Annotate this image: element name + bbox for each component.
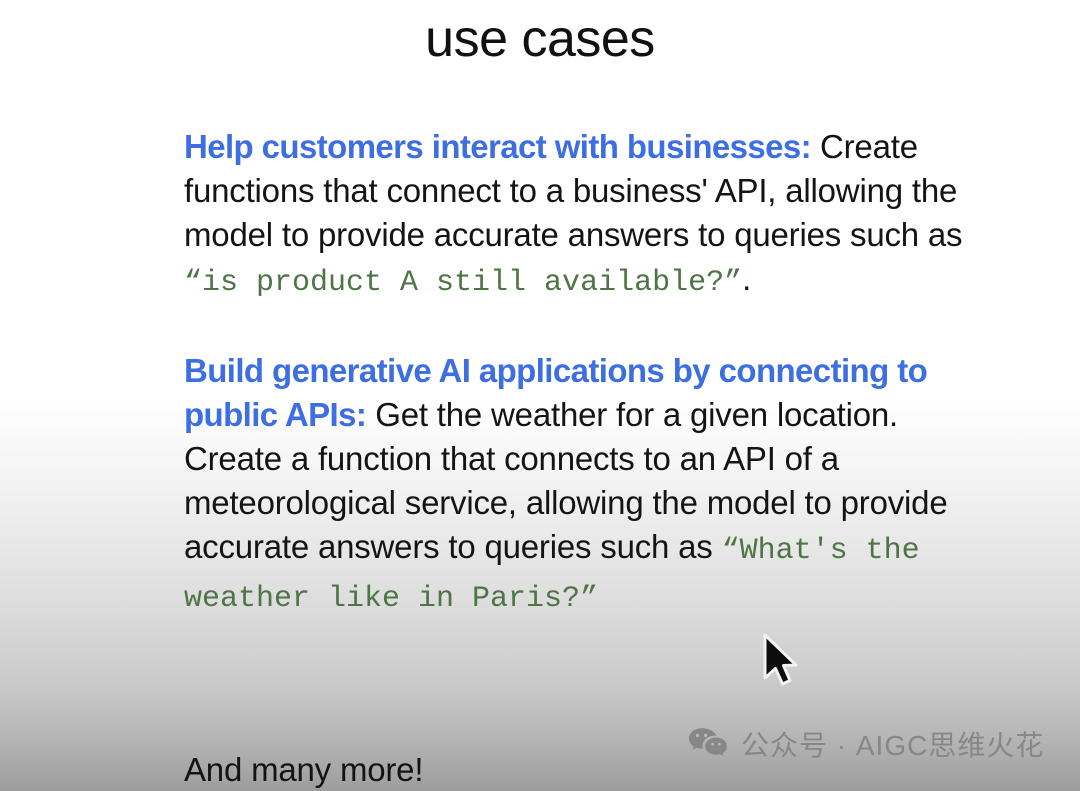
watermark-text: 公众号 · AIGC思维火花 — [741, 732, 1044, 760]
section-1-heading: Help customers interact with businesses: — [184, 128, 811, 165]
closing-line: And many more! — [184, 748, 423, 791]
watermark: 公众号 · AIGC思维火花 — [688, 727, 1044, 764]
mouse-pointer-icon — [760, 632, 806, 694]
page-title: use cases — [0, 8, 1080, 70]
wechat-icon — [688, 727, 728, 764]
section-1-code-quote: “is product A still available?” — [184, 266, 742, 300]
use-case-section-1: Help customers interact with businesses:… — [184, 125, 974, 305]
section-spacer — [184, 305, 974, 349]
use-case-section-2: Build generative AI applications by conn… — [184, 349, 974, 621]
section-1-body-after: . — [742, 260, 751, 297]
slide-canvas: use cases Help customers interact with b… — [0, 0, 1080, 791]
slide-body: Help customers interact with businesses:… — [184, 125, 974, 621]
